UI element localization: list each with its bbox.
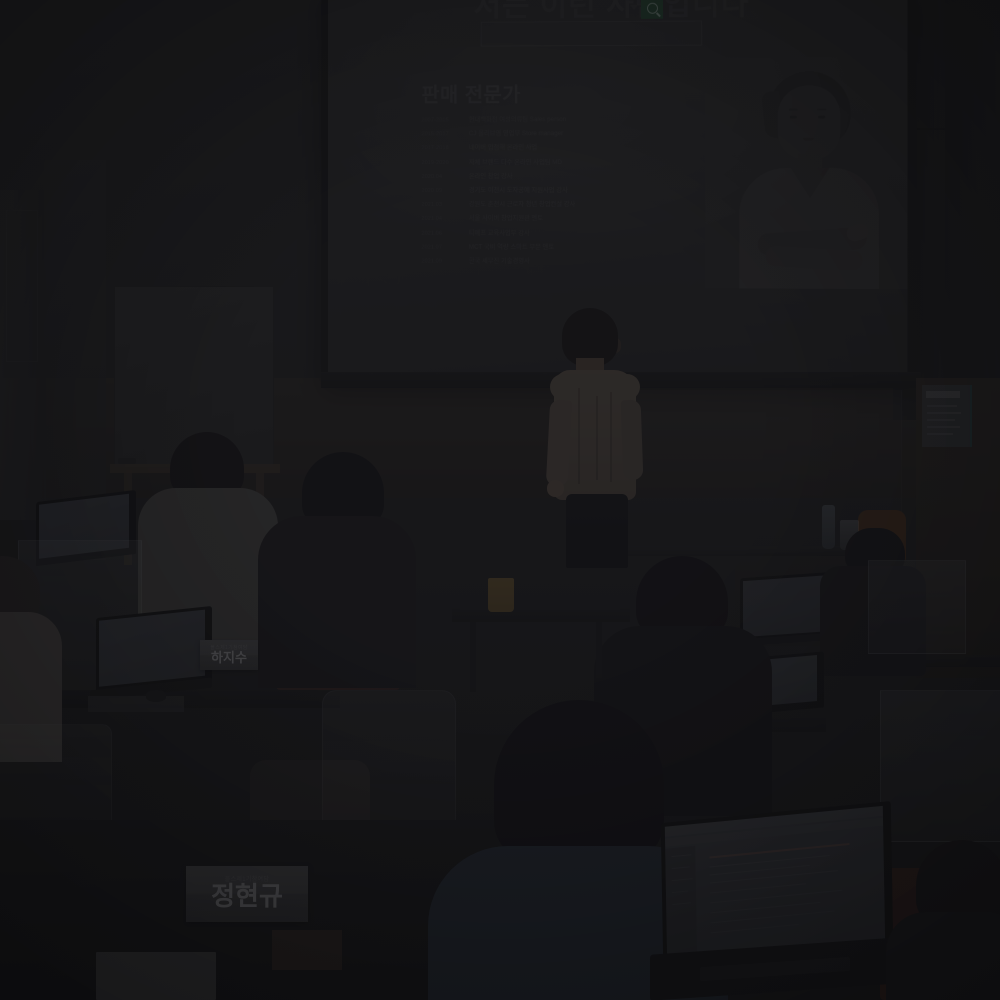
nameplate-1-name: 하지수 <box>211 651 247 665</box>
search-icon <box>641 0 663 19</box>
timeline-year: 2007-2015 <box>421 117 468 123</box>
timeline-text: 온라인 창업 강사 <box>469 171 513 180</box>
acrylic-divider-right <box>868 560 966 654</box>
timeline-year: 2021.09 <box>421 258 468 264</box>
timeline-text: 경기도 이천시 도자공예 지원사업 강사 <box>469 185 568 194</box>
slide-search-input <box>481 21 702 47</box>
nameplate-2: 블스제1기참여담 정현규 <box>186 866 308 922</box>
nameplate-2-name: 정현규 <box>211 883 283 910</box>
whiteboard-marker <box>118 458 136 464</box>
timeline-row: 2019-2020자체 브랜드 다수 온라인 사업팀 MD <box>421 156 730 165</box>
nameplate-2-sub: 블스제1기참여담 <box>225 877 269 883</box>
timeline-text: 한국 세무진 기술경영사 <box>469 256 530 265</box>
timeline-row: 2015-2017CJ 올리브영 영업부 Store manager <box>421 128 730 137</box>
timeline-row: 2007-2015현대백화점 여성의류팀 Sales person <box>421 114 730 124</box>
timeline-row: 2020.04온라인 창업 강사 <box>421 171 730 180</box>
nameplate-1-sub: 블스제1기참여담 <box>210 646 247 651</box>
presenter-pants <box>566 494 628 568</box>
timeline-year: 2021.06 <box>421 230 468 236</box>
item-on-desk <box>272 930 342 970</box>
timeline-text: 강원도 춘천시 근로자 청년 창업컨설 강사 <box>469 199 575 208</box>
timeline-row: 2021.07MCT 국비 역량 스마트 부문 멘토 <box>421 241 730 251</box>
timeline-year: 2021.03 <box>421 202 468 208</box>
desk-mat-left <box>88 696 184 712</box>
timeline-row: 2021.03강원도 춘천시 근로자 청년 창업컨설 강사 <box>421 199 730 208</box>
timeline-year: 2020.09 <box>421 188 468 194</box>
notebook-front <box>96 952 216 1000</box>
center-table <box>452 608 630 622</box>
wall-notice-poster <box>922 385 970 447</box>
timeline-row: 2021.06티메프 교육사업부 강사 <box>421 227 730 236</box>
water-bottle <box>822 505 835 549</box>
timeline-row: 2021.09한국 세무진 기술경영사 <box>421 255 730 265</box>
center-table-top <box>460 600 620 610</box>
left-door-panel <box>6 210 38 362</box>
acrylic-divider-right-front <box>880 690 1000 842</box>
timeline-text: 네이버 입점해 온라인 사업 <box>469 142 537 151</box>
timeline-year: 2015-2017 <box>421 131 468 137</box>
timeline-year: 2020.04 <box>421 174 468 180</box>
timeline-year: 2021.07 <box>421 244 468 250</box>
timeline-text: CJ 올리브영 영업부 Store manager <box>469 128 563 137</box>
timeline-text: 서울 사이버 창업지원관 멘토 <box>469 213 543 222</box>
classroom-photo-scene: 저는 이런 사람입니다 판매 전문가 2007-2015현대백화점 여성의류팀 … <box>0 0 1000 1000</box>
slide-timeline-list: 2007-2015현대백화점 여성의류팀 Sales person2015-20… <box>421 114 730 271</box>
chevron-down-icon <box>630 5 638 10</box>
amber-paper-cup <box>488 578 514 612</box>
right-wall-column-far <box>945 0 1000 380</box>
slide-section-heading: 판매 전문가 <box>421 78 521 107</box>
timeline-year: 2017-2018 <box>421 146 468 152</box>
timeline-text: 현대백화점 여성의류팀 Sales person <box>469 114 566 123</box>
timeline-text: 자체 브랜드 다수 온라인 사업팀 MD <box>469 157 562 166</box>
mouse-left-front <box>146 690 166 702</box>
timeline-text: MCT 국비 역량 스마트 부문 멘토 <box>469 241 554 250</box>
nameplate-1: 블스제1기참여담 하지수 <box>200 640 258 670</box>
timeline-text: 티메프 교육사업부 강사 <box>469 227 530 236</box>
timeline-row: 2020.09경기도 이천시 도자공예 지원사업 강사 <box>421 185 730 194</box>
slide-profile-photo <box>705 57 907 289</box>
presenter <box>548 308 658 566</box>
timeline-year: 2021.04 <box>421 216 468 222</box>
timeline-year: 2019-2020 <box>421 160 468 166</box>
timeline-row: 2017-2018네이버 입점해 온라인 사업 <box>421 142 730 151</box>
timeline-row: 2021.04서울 사이버 창업지원관 멘토 <box>421 213 730 222</box>
